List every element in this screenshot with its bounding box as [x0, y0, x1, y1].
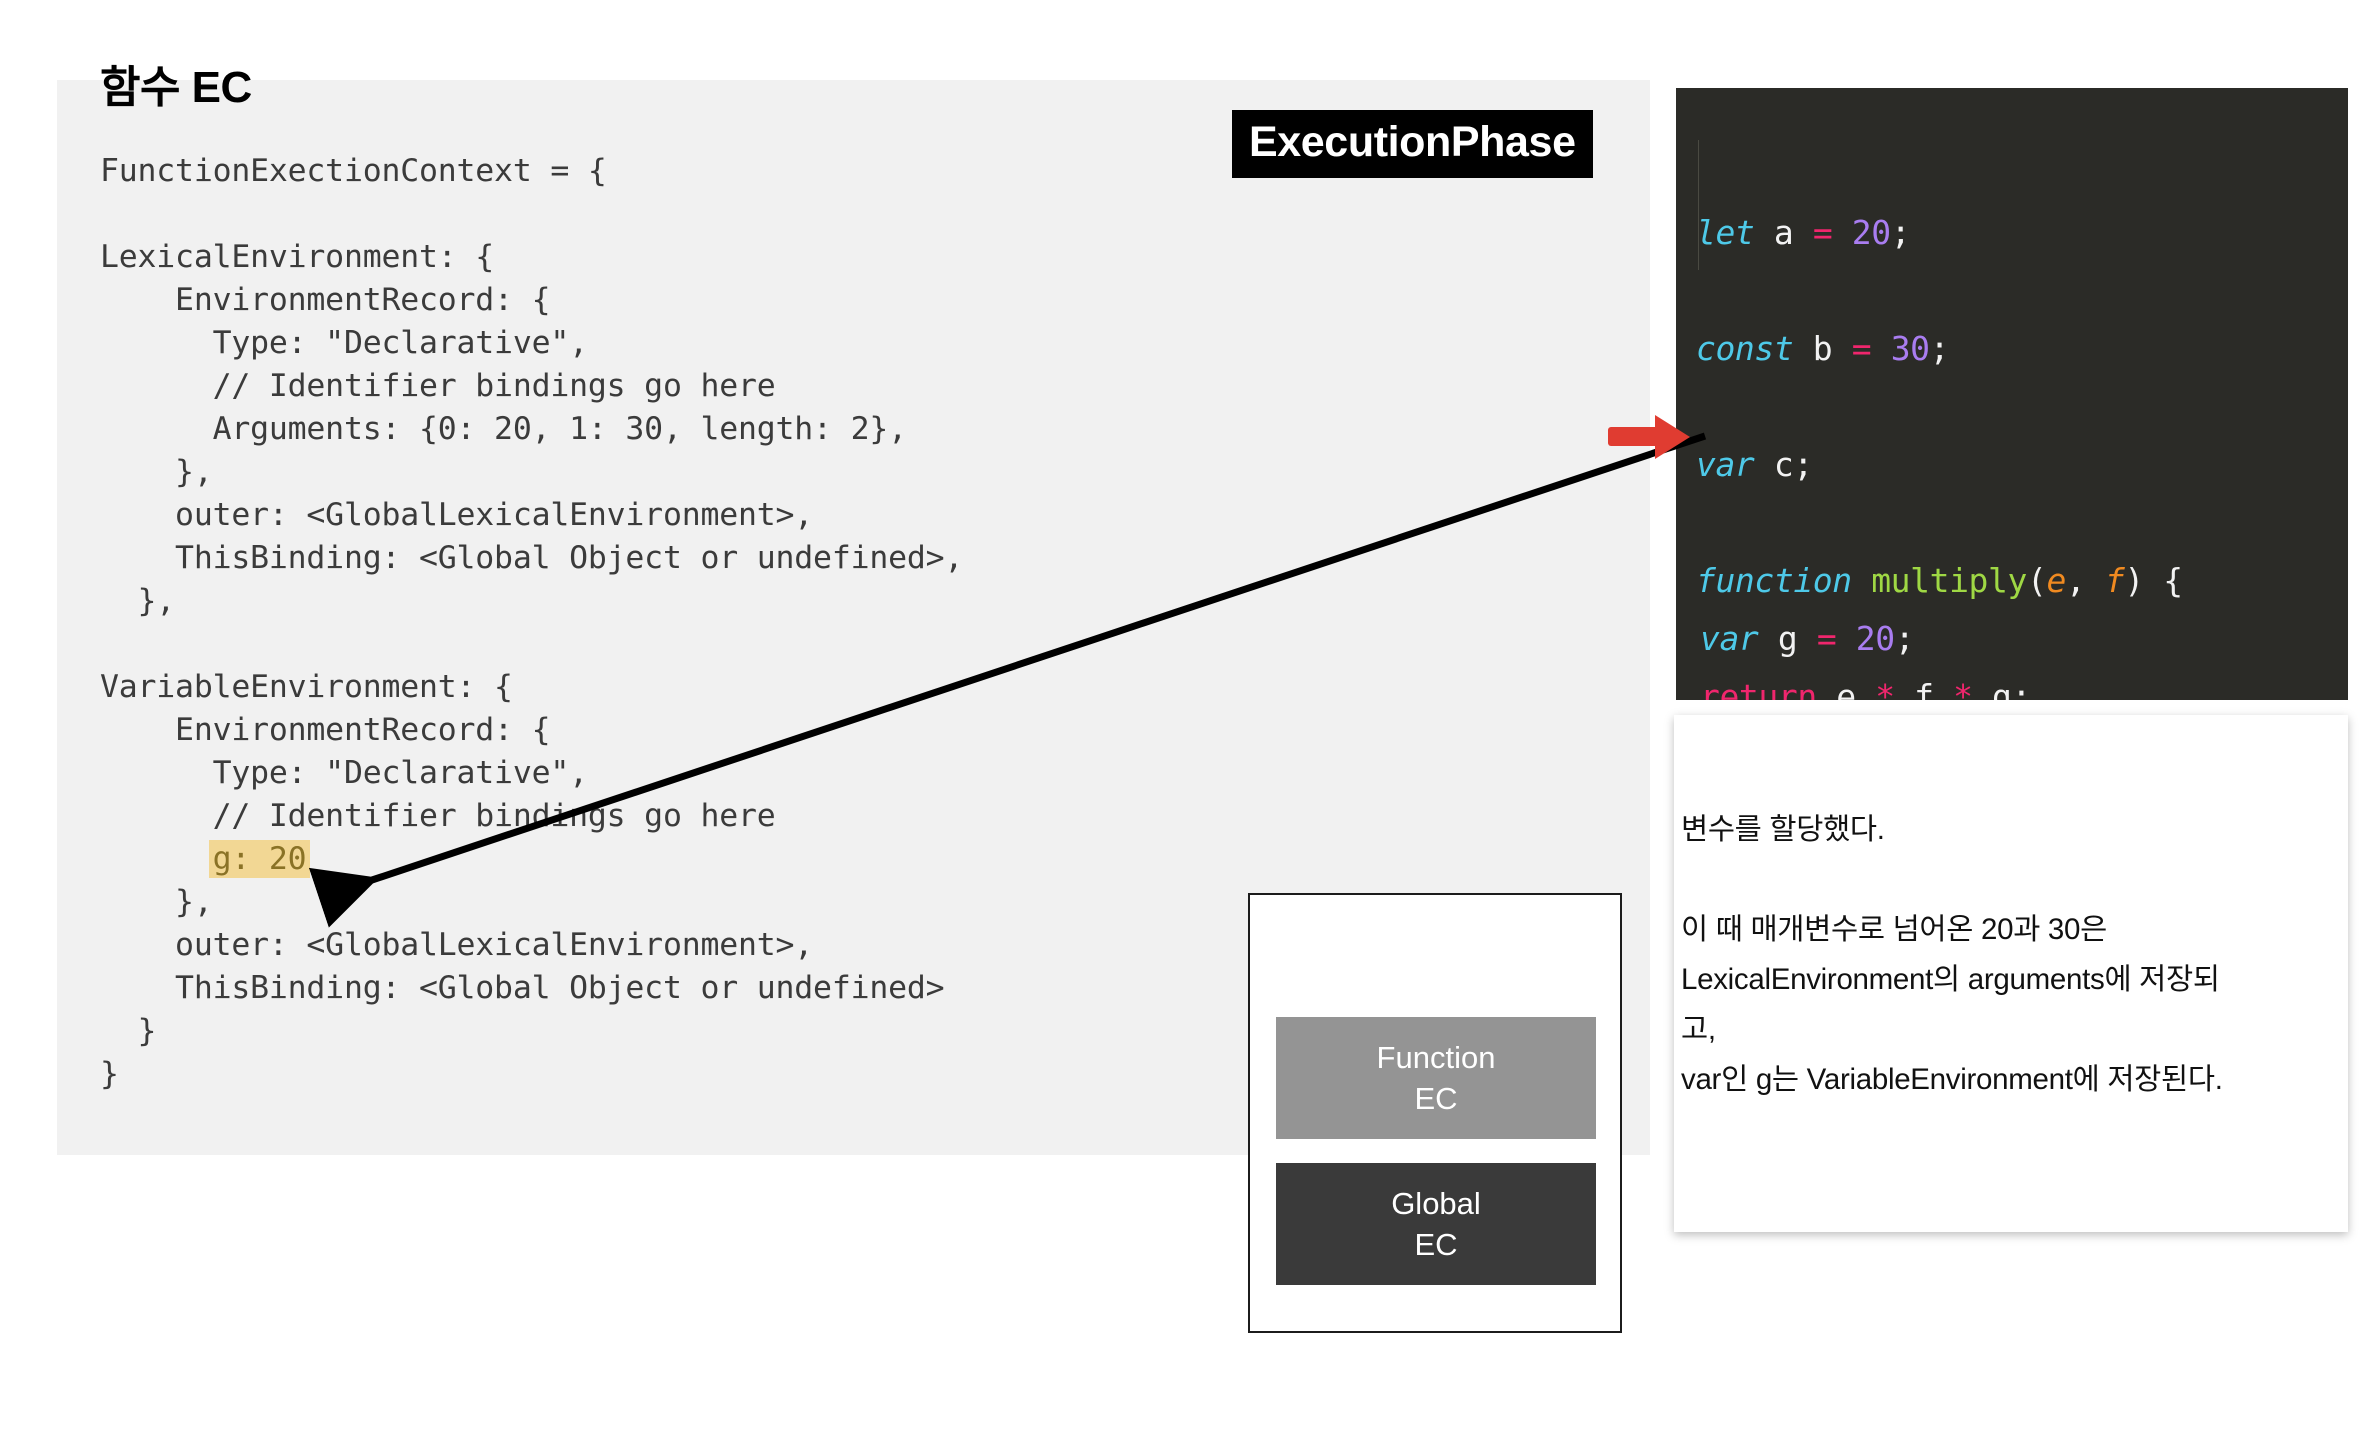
- code-line: [100, 193, 963, 236]
- code-token: function: [1696, 561, 1852, 600]
- code-line: [100, 623, 963, 666]
- execution-context-stack: Function EC Global EC: [1248, 893, 1622, 1333]
- code-token: =: [1852, 329, 1871, 368]
- code-token: f: [1895, 677, 1953, 700]
- code-token: a: [1754, 213, 1812, 252]
- explanation-note-text: 변수를 할당했다. 이 때 매개변수로 넘어온 20과 30은 LexicalE…: [1681, 805, 2341, 1105]
- code-line: outer: <GlobalLexicalEnvironment>,: [100, 494, 963, 537]
- code-token: 20: [1856, 619, 1895, 658]
- ec-stack-cell-function: Function EC: [1276, 1017, 1596, 1139]
- code-token: [1832, 213, 1851, 252]
- code-token: var: [1700, 619, 1758, 658]
- code-line: ThisBinding: <Global Object or undefined…: [100, 967, 963, 1010]
- code-line: [1676, 378, 2348, 436]
- indent-guide-line: [1698, 140, 1699, 270]
- code-line: Type: "Declarative",: [100, 322, 963, 365]
- code-token: return: [1700, 677, 1817, 700]
- code-token: ) {: [2124, 561, 2182, 600]
- code-token: ;: [1930, 329, 1949, 368]
- page-title: 함수 EC: [100, 66, 252, 110]
- code-token: =: [1817, 619, 1836, 658]
- execution-phase-badge: ExecutionPhase: [1232, 110, 1593, 178]
- code-line: // Identifier bindings go here: [100, 795, 963, 838]
- ec-stack-cell-global: Global EC: [1276, 1163, 1596, 1285]
- code-line: LexicalEnvironment: {: [100, 236, 963, 279]
- code-line: let a = 20;: [1676, 204, 2348, 262]
- code-token: const: [1696, 329, 1793, 368]
- code-line: EnvironmentRecord: {: [100, 279, 963, 322]
- source-code-block: let a = 20; const b = 30; var c; functio…: [1676, 88, 2348, 700]
- highlighted-binding: g: 20: [209, 840, 311, 878]
- code-token: [1871, 329, 1890, 368]
- code-token: multiply: [1871, 561, 2027, 600]
- code-line: FunctionExectionContext = {: [100, 150, 963, 193]
- code-token: let: [1696, 213, 1754, 252]
- code-line: VariableEnvironment: {: [100, 666, 963, 709]
- code-token: (: [2027, 561, 2046, 600]
- code-line: EnvironmentRecord: {: [100, 709, 963, 752]
- code-token: [1836, 619, 1855, 658]
- code-line: return e * f * g;: [1676, 668, 2348, 700]
- code-line: Type: "Declarative",: [100, 752, 963, 795]
- code-line: function multiply(e, f) {: [1676, 552, 2348, 610]
- code-token: e: [2046, 561, 2065, 600]
- function-execution-context-code: FunctionExectionContext = { LexicalEnvir…: [100, 150, 963, 1096]
- code-token: 30: [1891, 329, 1930, 368]
- code-token: 20: [1852, 213, 1891, 252]
- code-token: ,: [2066, 561, 2105, 600]
- code-line: g: 20: [100, 838, 963, 881]
- code-token: =: [1813, 213, 1832, 252]
- code-line: },: [100, 580, 963, 623]
- code-line: },: [100, 881, 963, 924]
- code-token: g;: [1973, 677, 2031, 700]
- code-line: const b = 30;: [1676, 320, 2348, 378]
- code-line: var g = 20;: [1676, 610, 2348, 668]
- code-line: },: [100, 451, 963, 494]
- code-token: g: [1758, 619, 1816, 658]
- code-line: var c;: [1676, 436, 2348, 494]
- code-token: *: [1875, 677, 1894, 700]
- code-line: Arguments: {0: 20, 1: 30, length: 2},: [100, 408, 963, 451]
- code-token: e: [1817, 677, 1875, 700]
- code-line: ThisBinding: <Global Object or undefined…: [100, 537, 963, 580]
- code-line: outer: <GlobalLexicalEnvironment>,: [100, 924, 963, 967]
- code-line: [1676, 262, 2348, 320]
- code-token: c;: [1754, 445, 1812, 484]
- code-token: *: [1953, 677, 1972, 700]
- code-line: // Identifier bindings go here: [100, 365, 963, 408]
- code-token: [1852, 561, 1871, 600]
- code-line: }: [100, 1010, 963, 1053]
- code-token: f: [2105, 561, 2124, 600]
- code-line: }: [100, 1053, 963, 1096]
- code-line: [1676, 494, 2348, 552]
- code-token: b: [1793, 329, 1851, 368]
- code-token: ;: [1895, 619, 1914, 658]
- code-token: var: [1696, 445, 1754, 484]
- code-token: ;: [1891, 213, 1910, 252]
